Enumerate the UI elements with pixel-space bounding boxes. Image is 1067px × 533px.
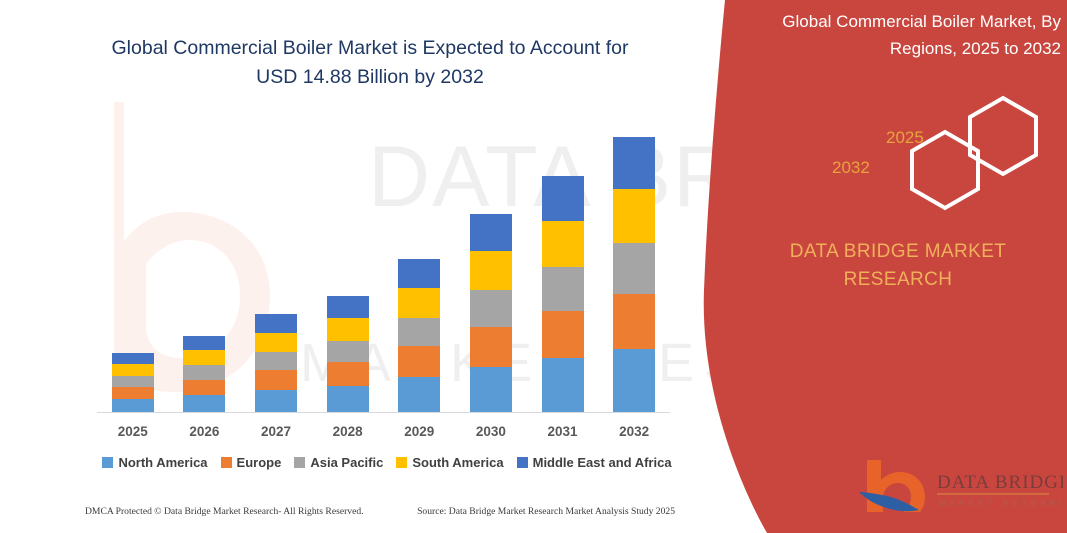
bar-segment[interactable] xyxy=(613,243,655,294)
bar-segment[interactable] xyxy=(470,367,512,413)
legend-swatch-icon xyxy=(221,457,232,468)
x-axis-label-2028: 2028 xyxy=(313,424,383,439)
bar-segment[interactable] xyxy=(613,294,655,349)
right-panel-title: Global Commercial Boiler Market, By Regi… xyxy=(735,8,1061,62)
hexagon-outline-icons xyxy=(813,92,1067,212)
legend-item[interactable]: Asia Pacific xyxy=(294,455,383,470)
hexagon-2032-label: 2032 xyxy=(832,158,870,178)
bar-segment[interactable] xyxy=(327,362,369,386)
bar-segment[interactable] xyxy=(183,350,225,365)
bar-segment[interactable] xyxy=(542,311,584,358)
bar-segment[interactable] xyxy=(542,221,584,267)
bar-group-2032[interactable] xyxy=(613,137,655,413)
legend-item[interactable]: Middle East and Africa xyxy=(517,455,672,470)
x-axis-label-2032: 2032 xyxy=(599,424,669,439)
bar-group-2029[interactable] xyxy=(398,259,440,413)
brand-name: DATA BRIDGE MARKET RESEARCH xyxy=(735,238,1061,294)
bar-segment[interactable] xyxy=(112,376,154,387)
legend-item[interactable]: North America xyxy=(102,455,207,470)
brand-name-line2: RESEARCH xyxy=(735,266,1061,294)
bar-segment[interactable] xyxy=(470,290,512,327)
legend-swatch-icon xyxy=(294,457,305,468)
bar-segment[interactable] xyxy=(255,370,297,390)
bar-group-2025[interactable] xyxy=(112,353,154,413)
bar-segment[interactable] xyxy=(327,341,369,363)
chart-x-axis-labels: 20252026202720282029203020312032 xyxy=(97,424,670,446)
brand-name-line1: DATA BRIDGE MARKET xyxy=(735,238,1061,266)
right-panel-title-line1: Global Commercial Boiler Market, By xyxy=(735,8,1061,35)
bar-segment[interactable] xyxy=(112,353,154,364)
bar-segment[interactable] xyxy=(470,251,512,290)
legend-swatch-icon xyxy=(102,457,113,468)
x-axis-label-2026: 2026 xyxy=(169,424,239,439)
right-panel-content: Global Commercial Boiler Market, By Regi… xyxy=(735,0,1067,533)
bar-group-2028[interactable] xyxy=(327,296,369,413)
x-axis-label-2031: 2031 xyxy=(528,424,598,439)
chart-baseline xyxy=(97,412,670,413)
infographic-root: DATA BRIDGE MARKET RESEARCH Global Comme… xyxy=(0,0,1067,533)
bar-segment[interactable] xyxy=(255,352,297,370)
bar-group-2026[interactable] xyxy=(183,336,225,413)
bar-segment[interactable] xyxy=(398,288,440,318)
page-title-line2: USD 14.88 Billion by 2032 xyxy=(60,63,680,92)
bar-segment[interactable] xyxy=(255,333,297,352)
chart-plot-area xyxy=(97,100,670,413)
bar-segment[interactable] xyxy=(398,377,440,413)
bar-group-2030[interactable] xyxy=(470,214,512,413)
bar-segment[interactable] xyxy=(470,327,512,367)
logo-subtitle-text: MARKET RESEARCH xyxy=(939,499,1063,508)
bar-segment[interactable] xyxy=(255,314,297,333)
right-panel-title-line2: Regions, 2025 to 2032 xyxy=(735,35,1061,62)
bar-segment[interactable] xyxy=(327,386,369,413)
footer: DMCA Protected © Data Bridge Market Rese… xyxy=(85,506,675,517)
bar-segment[interactable] xyxy=(183,395,225,413)
bar-group-2027[interactable] xyxy=(255,314,297,413)
legend-label: Europe xyxy=(237,455,282,470)
bar-segment[interactable] xyxy=(470,214,512,251)
bar-segment[interactable] xyxy=(112,399,154,413)
legend-label: North America xyxy=(118,455,207,470)
bar-segment[interactable] xyxy=(398,259,440,288)
bar-segment[interactable] xyxy=(327,296,369,318)
data-bridge-logo: DATA BRIDGE MARKET RESEARCH xyxy=(853,458,1063,514)
bar-segment[interactable] xyxy=(183,365,225,379)
legend-label: South America xyxy=(412,455,503,470)
bar-segment[interactable] xyxy=(255,390,297,413)
x-axis-label-2030: 2030 xyxy=(456,424,526,439)
bar-segment[interactable] xyxy=(542,267,584,311)
bar-segment[interactable] xyxy=(542,176,584,221)
bar-segment[interactable] xyxy=(613,189,655,243)
x-axis-label-2025: 2025 xyxy=(98,424,168,439)
bar-segment[interactable] xyxy=(112,364,154,376)
page-title-line1: Global Commercial Boiler Market is Expec… xyxy=(60,34,680,63)
hexagon-2025-label: 2025 xyxy=(886,128,924,148)
chart-legend: North AmericaEuropeAsia PacificSouth Ame… xyxy=(97,455,677,470)
bar-segment[interactable] xyxy=(112,387,154,399)
bar-segment[interactable] xyxy=(183,380,225,395)
legend-label: Asia Pacific xyxy=(310,455,383,470)
x-axis-label-2029: 2029 xyxy=(384,424,454,439)
bar-segment[interactable] xyxy=(613,349,655,413)
footer-copyright: DMCA Protected © Data Bridge Market Rese… xyxy=(85,506,364,517)
bar-segment[interactable] xyxy=(327,318,369,341)
legend-item[interactable]: South America xyxy=(396,455,503,470)
bar-segment[interactable] xyxy=(613,137,655,189)
bar-segment[interactable] xyxy=(398,346,440,377)
logo-title-text: DATA BRIDGE xyxy=(937,472,1063,493)
legend-swatch-icon xyxy=(396,457,407,468)
legend-label: Middle East and Africa xyxy=(533,455,672,470)
x-axis-label-2027: 2027 xyxy=(241,424,311,439)
legend-item[interactable]: Europe xyxy=(221,455,282,470)
hexagon-badges xyxy=(813,92,1067,212)
footer-source: Source: Data Bridge Market Research Mark… xyxy=(417,506,675,517)
bar-segment[interactable] xyxy=(398,318,440,347)
bar-segment[interactable] xyxy=(542,358,584,413)
legend-swatch-icon xyxy=(517,457,528,468)
bar-segment[interactable] xyxy=(183,336,225,350)
bar-group-2031[interactable] xyxy=(542,176,584,413)
page-title: Global Commercial Boiler Market is Expec… xyxy=(60,34,680,92)
